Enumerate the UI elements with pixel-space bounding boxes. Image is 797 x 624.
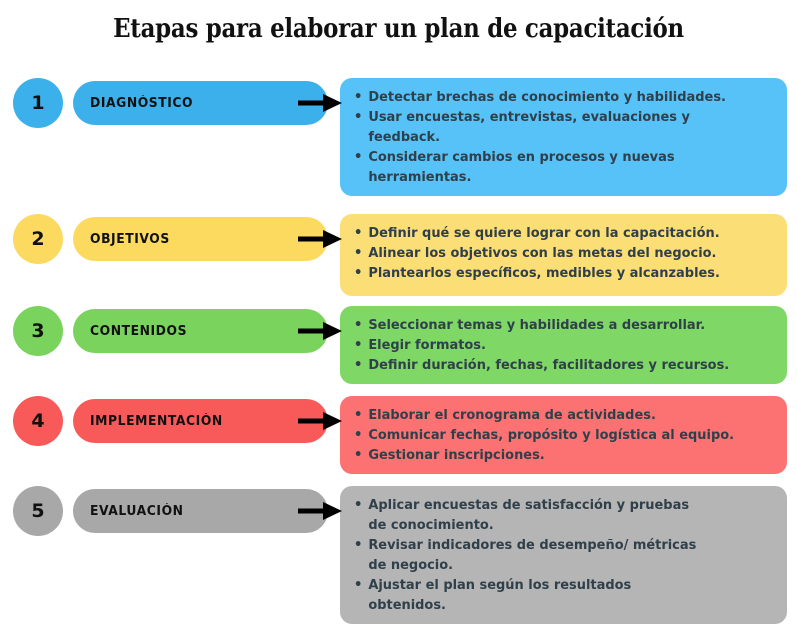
stage-pill[interactable]: OBJETIVOS xyxy=(73,217,328,261)
bullet-item: Definir qué se quiere lograr con la capa… xyxy=(352,223,756,243)
stage-number: 2 xyxy=(31,228,44,250)
stages-list: 1DIAGNÓSTICODetectar brechas de conocimi… xyxy=(0,78,797,624)
stage-label: CONTENIDOS xyxy=(90,324,187,339)
bullet-item: Plantearlos específicos, medibles y alca… xyxy=(352,263,756,283)
stage-number-badge: 2 xyxy=(13,214,63,264)
page-title: Etapas para elaborar un plan de capacita… xyxy=(48,14,749,44)
stage-number-badge: 3 xyxy=(13,306,63,356)
stage-header[interactable]: 5EVALUACIÓN xyxy=(0,486,340,536)
bullet-list: Seleccionar temas y habilidades a desarr… xyxy=(352,315,773,375)
stage-label: DIAGNÓSTICO xyxy=(90,96,193,111)
stage-detail-panel: Definir qué se quiere lograr con la capa… xyxy=(340,214,787,296)
stage-pill[interactable]: CONTENIDOS xyxy=(73,309,328,353)
stage-label: EVALUACIÓN xyxy=(90,504,184,519)
stage-number: 4 xyxy=(31,410,44,432)
stage-label: OBJETIVOS xyxy=(90,232,170,247)
bullet-item: Definir duración, fechas, facilitadores … xyxy=(352,355,756,375)
stage-header[interactable]: 3CONTENIDOS xyxy=(0,306,340,356)
bullet-item: Usar encuestas, entrevistas, evaluacione… xyxy=(352,107,756,147)
stage-pill[interactable]: DIAGNÓSTICO xyxy=(73,81,328,125)
stage-row: 4IMPLEMENTACIÓNElaborar el cronograma de… xyxy=(0,396,797,474)
stage-detail-panel: Elaborar el cronograma de actividades.Co… xyxy=(340,396,787,474)
bullet-item: Alinear los objetivos con las metas del … xyxy=(352,243,756,263)
stage-detail-panel: Aplicar encuestas de satisfacción y prue… xyxy=(340,486,787,624)
bullet-item: Elaborar el cronograma de actividades. xyxy=(352,405,756,425)
stage-number: 5 xyxy=(31,500,44,522)
stage-number: 1 xyxy=(31,92,44,114)
stage-number: 3 xyxy=(31,320,44,342)
bullet-list: Elaborar el cronograma de actividades.Co… xyxy=(352,405,773,465)
bullet-item: Aplicar encuestas de satisfacción y prue… xyxy=(352,495,756,535)
stage-pill[interactable]: EVALUACIÓN xyxy=(73,489,328,533)
stage-number-badge: 4 xyxy=(13,396,63,446)
stage-row: 2OBJETIVOSDefinir qué se quiere lograr c… xyxy=(0,214,797,296)
bullet-item: Seleccionar temas y habilidades a desarr… xyxy=(352,315,756,335)
bullet-list: Aplicar encuestas de satisfacción y prue… xyxy=(352,495,773,615)
stage-row: 3CONTENIDOSSeleccionar temas y habilidad… xyxy=(0,306,797,384)
bullet-list: Detectar brechas de conocimiento y habil… xyxy=(352,87,773,187)
stage-number-badge: 5 xyxy=(13,486,63,536)
bullet-item: Gestionar inscripciones. xyxy=(352,445,756,465)
stage-detail-panel: Seleccionar temas y habilidades a desarr… xyxy=(340,306,787,384)
stage-header[interactable]: 2OBJETIVOS xyxy=(0,214,340,264)
stage-number-badge: 1 xyxy=(13,78,63,128)
bullet-item: Detectar brechas de conocimiento y habil… xyxy=(352,87,756,107)
bullet-item: Comunicar fechas, propósito y logística … xyxy=(352,425,756,445)
bullet-item: Considerar cambios en procesos y nuevas … xyxy=(352,147,756,187)
stage-detail-panel: Detectar brechas de conocimiento y habil… xyxy=(340,78,787,196)
bullet-list: Definir qué se quiere lograr con la capa… xyxy=(352,223,773,283)
stage-pill[interactable]: IMPLEMENTACIÓN xyxy=(73,399,328,443)
infographic-canvas: Etapas para elaborar un plan de capacita… xyxy=(0,0,797,601)
stage-header[interactable]: 1DIAGNÓSTICO xyxy=(0,78,340,128)
stage-label: IMPLEMENTACIÓN xyxy=(90,414,223,429)
stage-row: 1DIAGNÓSTICODetectar brechas de conocimi… xyxy=(0,78,797,196)
stage-header[interactable]: 4IMPLEMENTACIÓN xyxy=(0,396,340,446)
stage-row: 5EVALUACIÓNAplicar encuestas de satisfac… xyxy=(0,486,797,624)
bullet-item: Ajustar el plan según los resultados obt… xyxy=(352,575,756,615)
bullet-item: Revisar indicadores de desempeño/ métric… xyxy=(352,535,756,575)
bullet-item: Elegir formatos. xyxy=(352,335,756,355)
